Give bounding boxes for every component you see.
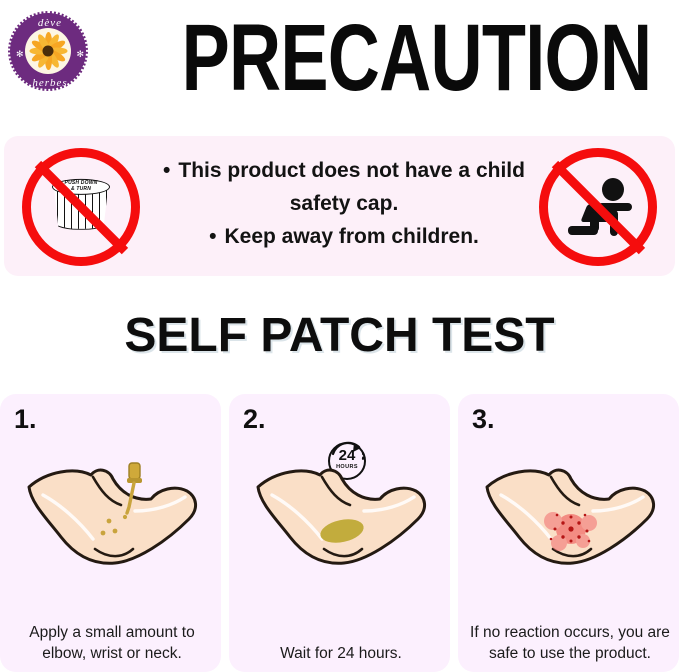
precaution-box: PUSH DOWN & TURN •This product does not …: [4, 136, 675, 276]
step-illustration-2: 24 HOURS: [229, 430, 450, 590]
patch-test-steps: 1.: [0, 394, 679, 672]
no-child-safety-cap-icon: PUSH DOWN & TURN: [22, 148, 140, 266]
bullet-text-2: Keep away from children.: [224, 225, 478, 248]
section-title-self-patch-test: SELF PATCH TEST: [0, 308, 679, 363]
step-caption-2: Wait for 24 hours.: [239, 643, 443, 664]
star-icon-left: ✻: [16, 49, 24, 60]
step-illustration-3: [458, 430, 679, 590]
elbow-with-patch-icon: [246, 445, 436, 575]
bullet-text-1-cont: safety cap.: [144, 187, 544, 220]
bullet-marker: •: [163, 154, 170, 187]
step-card-3: 3.: [458, 394, 679, 672]
step-caption-1: Apply a small amount to elbow, wrist or …: [10, 622, 214, 664]
step-card-2: 2. 24 HOURS: [229, 394, 450, 672]
precaution-bullet-list: •This product does not have a child safe…: [144, 154, 544, 253]
bullet-marker: •: [209, 220, 216, 253]
page-title: PRECAUTION: [182, 8, 509, 108]
logo-bottom-label: herbes: [10, 77, 90, 89]
logo-text: dève herbes ✻ ✻: [10, 13, 90, 93]
no-children-icon: [539, 148, 657, 266]
star-icon-right: ✻: [76, 49, 84, 60]
bullet-text-1: This product does not have a child: [178, 159, 525, 182]
step-illustration-1: [0, 430, 221, 590]
header: dève herbes ✻ ✻ PRECAUTION: [0, 0, 679, 128]
step-caption-3: If no reaction occurs, you are safe to u…: [468, 622, 672, 664]
logo-top-label: dève: [10, 17, 90, 29]
elbow-with-rash-icon: [475, 445, 665, 575]
step-card-1: 1.: [0, 394, 221, 672]
elbow-with-dropper-icon: [17, 445, 207, 575]
bullet-item-1: •This product does not have a child: [144, 154, 544, 187]
bullet-item-2: •Keep away from children.: [144, 220, 544, 253]
brand-logo: dève herbes ✻ ✻: [8, 11, 88, 91]
